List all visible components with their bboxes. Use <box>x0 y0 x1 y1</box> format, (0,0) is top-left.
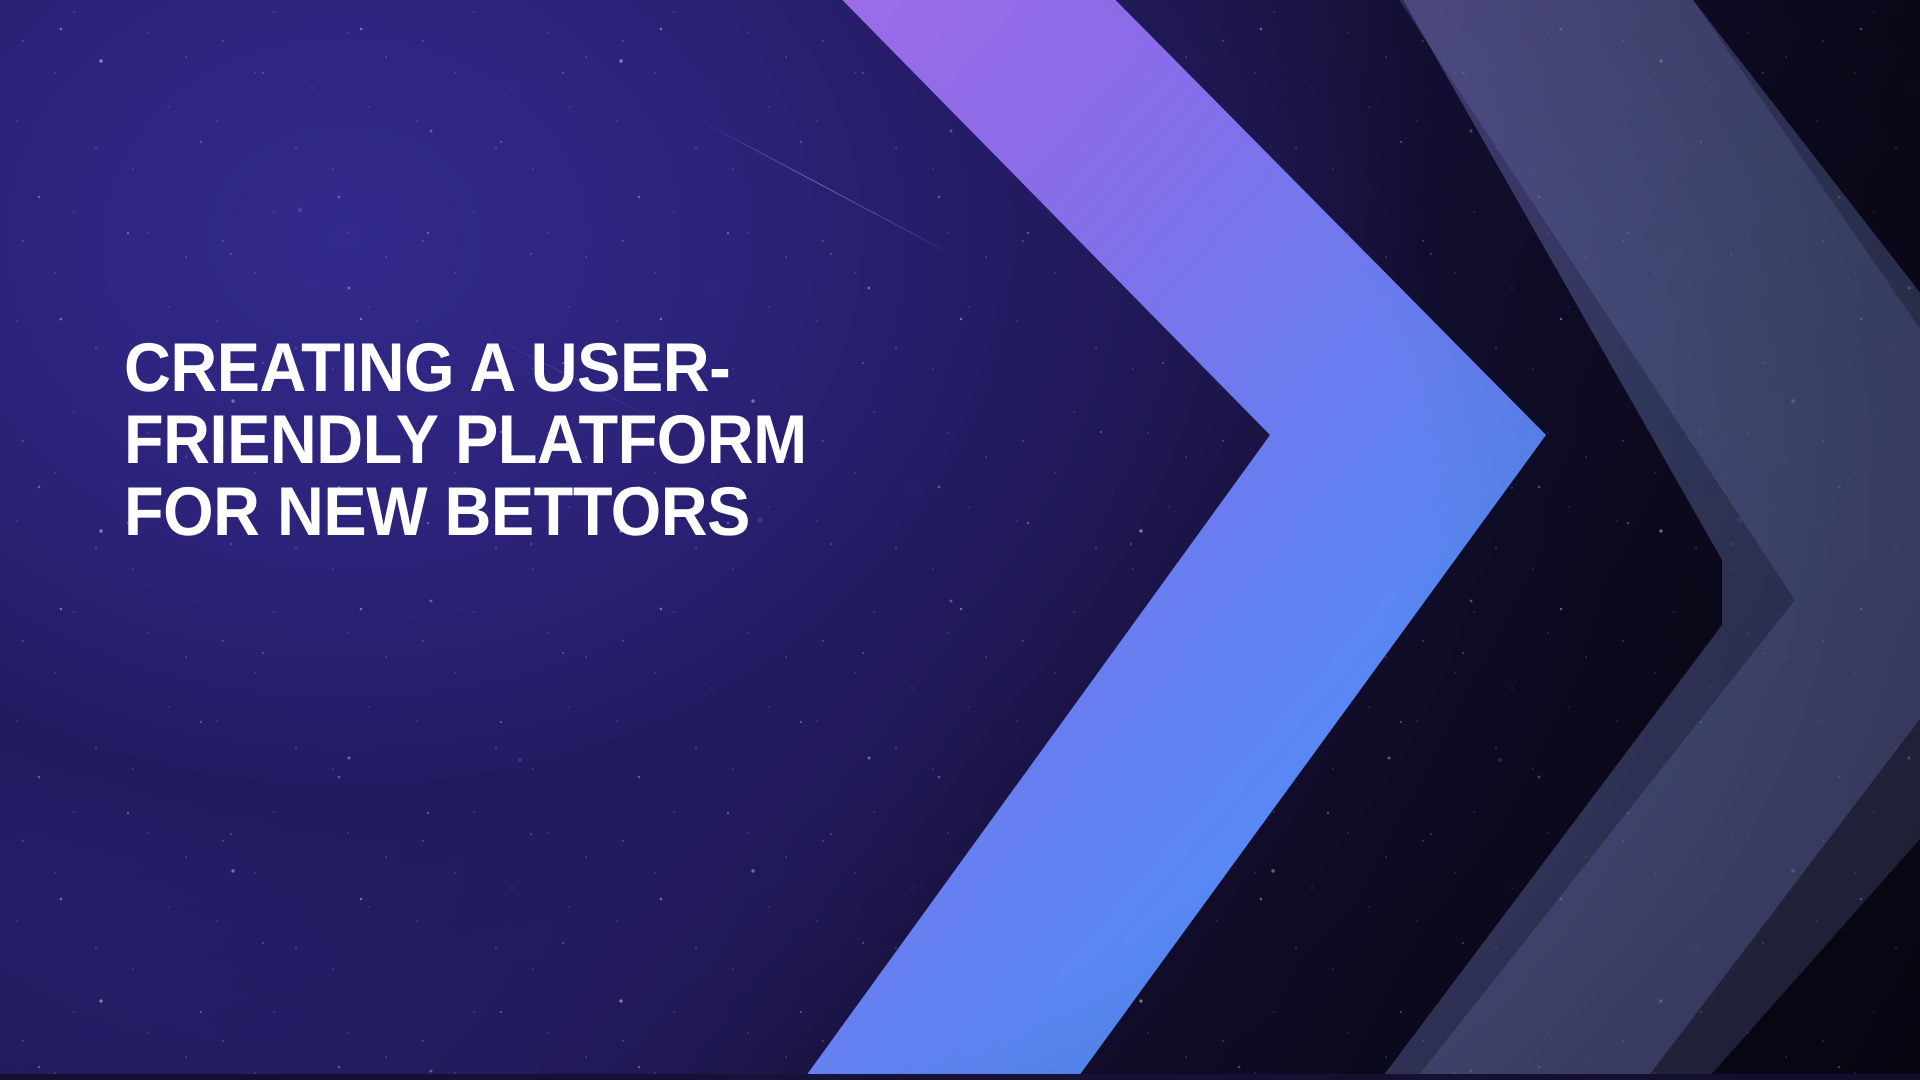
bottom-accent-strip <box>0 1074 1920 1080</box>
chevron-apex-notch <box>1262 420 1292 480</box>
translucent-chevron-upper <box>1320 0 1920 1080</box>
headline-line-3: FOR NEW BETTORS <box>124 476 970 548</box>
presentation-slide: CREATING A USER- FRIENDLY PLATFORM FOR N… <box>0 0 1920 1080</box>
translucent-chevron-shape <box>1335 0 1920 1080</box>
headline-line-1: CREATING A USER- <box>124 332 970 404</box>
meteor-streak-icon <box>700 120 965 262</box>
headline-line-2: FRIENDLY PLATFORM <box>124 404 970 476</box>
page-title: CREATING A USER- FRIENDLY PLATFORM FOR N… <box>124 332 1024 548</box>
